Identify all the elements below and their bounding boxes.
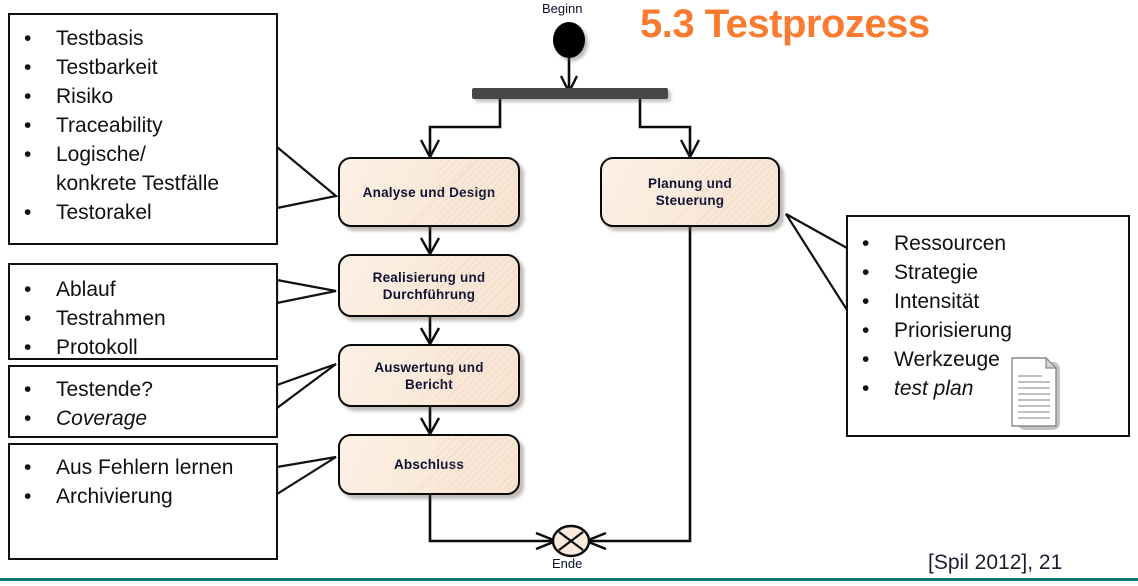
- activity-label: Planung und Steuerung: [648, 175, 732, 209]
- list-item: •Ablauf: [10, 275, 276, 304]
- bullet-icon: •: [24, 82, 31, 111]
- callout-list: •Ressourcen •Strategie •Intensität •Prio…: [848, 217, 1128, 403]
- bullet-icon: •: [24, 53, 31, 82]
- list-item: •Priorisierung: [848, 316, 1128, 345]
- slide-canvas: 5.3 Testprozess Beginn Ende Analyse und …: [0, 0, 1138, 586]
- bullet-icon: •: [24, 333, 31, 362]
- callout-abschluss: •Aus Fehlern lernen •Archivierung: [8, 443, 278, 560]
- bullet-icon: •: [862, 316, 869, 345]
- bullet-icon: •: [862, 374, 869, 403]
- list-item: •Testbarkeit: [10, 53, 276, 82]
- bullet-icon: •: [24, 482, 31, 511]
- list-item: •Ressourcen: [848, 229, 1128, 258]
- list-item: •Testende?: [10, 375, 276, 404]
- callout-list: •Ablauf •Testrahmen •Protokoll: [10, 265, 276, 362]
- list-item: •Intensität: [848, 287, 1128, 316]
- activity-node-analyse[interactable]: Analyse und Design: [338, 157, 520, 227]
- list-item: •test plan: [848, 374, 1128, 403]
- start-node: [553, 22, 585, 58]
- callout-auswertung: •Testende? •Coverage: [8, 365, 278, 438]
- bullet-icon: •: [24, 275, 31, 304]
- activity-label: Realisierung und Durchführung: [373, 269, 486, 303]
- fork-bar: [472, 88, 668, 99]
- bullet-icon: •: [24, 140, 31, 169]
- list-item: •Strategie: [848, 258, 1128, 287]
- activity-label: Analyse und Design: [363, 184, 496, 201]
- page-title: 5.3 Testprozess: [640, 2, 930, 47]
- callout-list: •Aus Fehlern lernen •Archivierung: [10, 445, 276, 511]
- tail-analyse: [277, 147, 336, 208]
- list-item: •Testorakel: [10, 198, 276, 227]
- tail-auswertung: [277, 364, 336, 408]
- tail-realisierung: [277, 280, 336, 303]
- activity-label: Abschluss: [394, 456, 464, 473]
- list-item: •Werkzeuge: [848, 345, 1128, 374]
- list-item: •Logische/: [10, 140, 276, 169]
- end-node-label: Ende: [552, 556, 582, 571]
- activity-label: Auswertung und Bericht: [374, 359, 483, 393]
- tail-abschluss: [277, 457, 336, 494]
- list-item: •Archivierung: [10, 482, 276, 511]
- bullet-icon: •: [862, 258, 869, 287]
- activity-node-planung[interactable]: Planung und Steuerung: [600, 157, 780, 227]
- start-node-label: Beginn: [542, 1, 582, 16]
- bullet-icon: •: [24, 404, 31, 433]
- list-item-continuation: konkrete Testfälle: [10, 169, 276, 198]
- callout-realisierung: •Ablauf •Testrahmen •Protokoll: [8, 263, 278, 360]
- activity-node-realisierung[interactable]: Realisierung und Durchführung: [338, 254, 520, 317]
- document-icon: [1006, 354, 1064, 434]
- list-item: •Protokoll: [10, 333, 276, 362]
- bullet-icon: •: [862, 287, 869, 316]
- source-citation: [Spil 2012], 21: [928, 551, 1062, 575]
- tail-planung: [786, 214, 847, 310]
- list-item: •Traceability: [10, 111, 276, 140]
- bullet-icon: •: [24, 198, 31, 227]
- bullet-icon: •: [24, 111, 31, 140]
- list-item: •Aus Fehlern lernen: [10, 453, 276, 482]
- bullet-icon: •: [862, 345, 869, 374]
- bullet-icon: •: [24, 375, 31, 404]
- bullet-icon: •: [862, 229, 869, 258]
- callout-planung: •Ressourcen •Strategie •Intensität •Prio…: [846, 215, 1130, 437]
- list-item: •Coverage: [10, 404, 276, 433]
- list-item: •Risiko: [10, 82, 276, 111]
- callout-list: •Testbasis •Testbarkeit •Risiko •Traceab…: [10, 15, 276, 227]
- list-item: •Testbasis: [10, 24, 276, 53]
- bullet-icon: •: [24, 304, 31, 333]
- activity-node-abschluss[interactable]: Abschluss: [338, 434, 520, 495]
- bullet-icon: •: [24, 24, 31, 53]
- callout-list: •Testende? •Coverage: [10, 367, 276, 433]
- list-item: •Testrahmen: [10, 304, 276, 333]
- callout-analyse: •Testbasis •Testbarkeit •Risiko •Traceab…: [8, 13, 278, 245]
- activity-node-auswertung[interactable]: Auswertung und Bericht: [338, 344, 520, 407]
- bullet-icon: •: [24, 453, 31, 482]
